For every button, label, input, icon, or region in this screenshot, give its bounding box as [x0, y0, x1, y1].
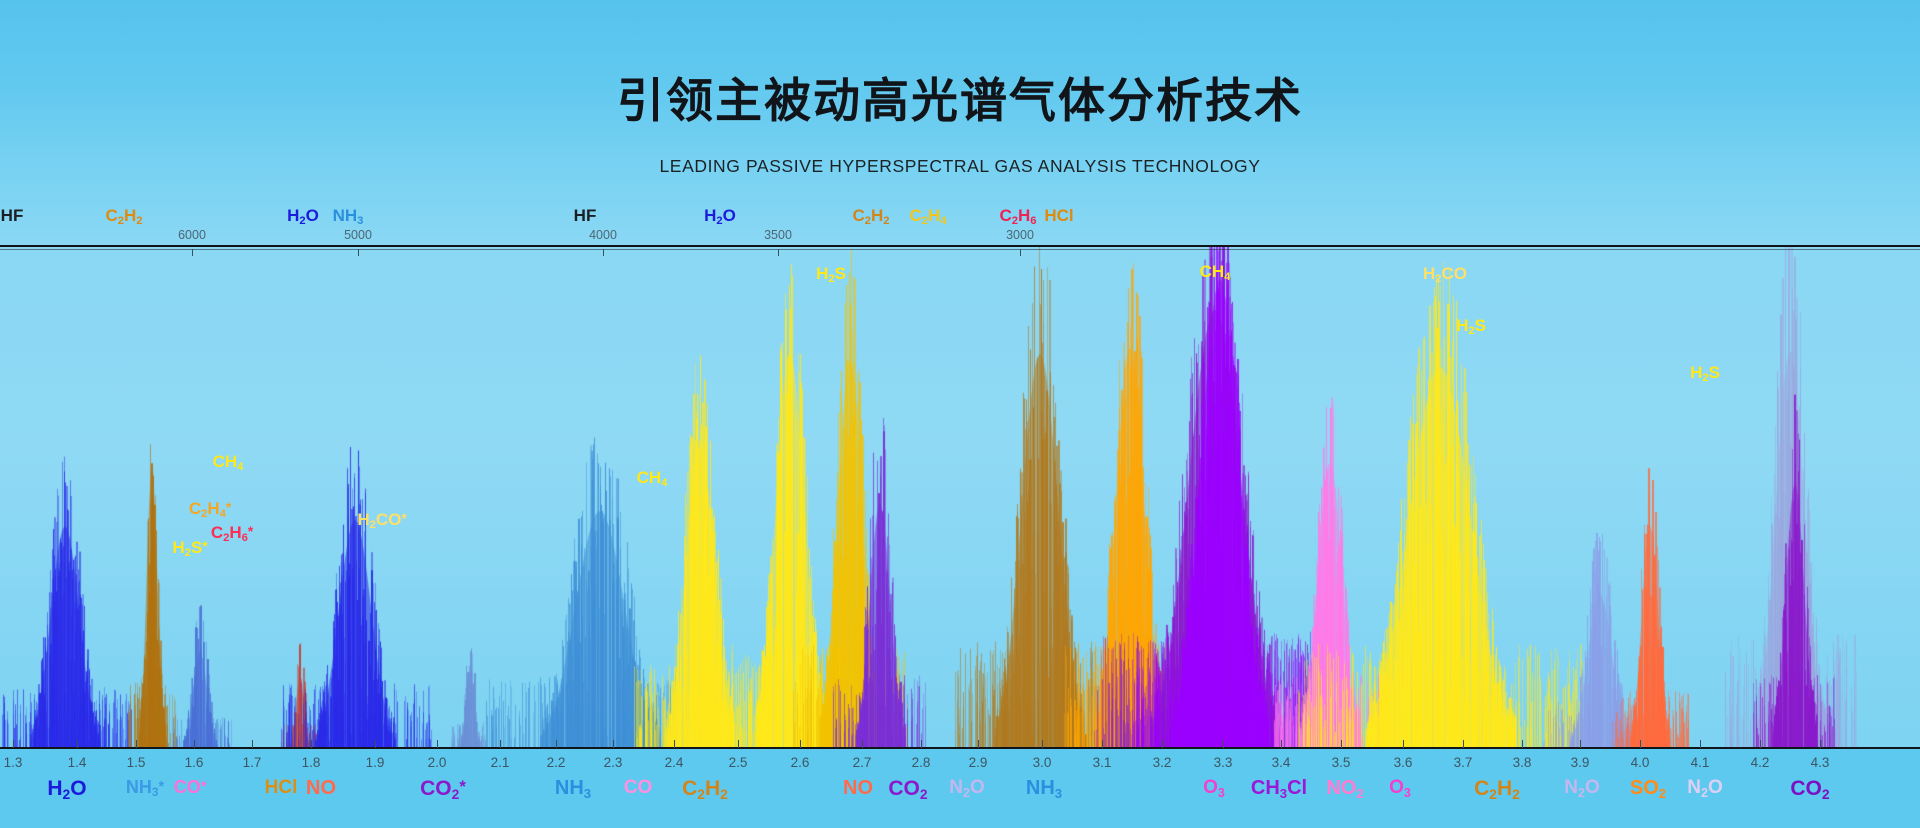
bottom-tick-label: 4.1	[1691, 755, 1710, 770]
bottom-species-label: CO2*	[420, 778, 466, 799]
bottom-tick-mark	[1403, 740, 1404, 748]
bottom-tick-mark	[800, 740, 801, 748]
page-title: 引领主被动高光谱气体分析技术	[0, 62, 1920, 131]
bottom-species-label: N2O	[1687, 778, 1723, 797]
bottom-species-label: SO2	[1630, 778, 1666, 798]
bottom-tick-mark	[978, 740, 979, 748]
bottom-tick-label: 2.3	[604, 755, 623, 770]
top-species-label: HF	[1, 207, 24, 224]
bottom-species-label: O3	[1389, 778, 1411, 797]
bottom-species-label: CH3Cl	[1251, 778, 1307, 798]
bottom-tick-mark	[921, 740, 922, 748]
bottom-tick-mark	[1162, 740, 1163, 748]
bottom-species-label: NH3*	[126, 778, 164, 796]
in-plot-species-label: H2S	[816, 265, 846, 282]
bottom-tick-label: 3.4	[1272, 755, 1291, 770]
bottom-tick-label: 3.8	[1513, 755, 1532, 770]
bottom-tick-mark	[311, 740, 312, 748]
bottom-tick-label: 3.0	[1033, 755, 1052, 770]
bottom-tick-label: 4.2	[1751, 755, 1770, 770]
top-tick-label: 3000	[1006, 228, 1034, 242]
bottom-tick-mark	[674, 740, 675, 748]
bottom-tick-label: 1.9	[366, 755, 385, 770]
bottom-tick-label: 1.5	[127, 755, 146, 770]
in-plot-species-label: H2S	[1456, 317, 1486, 334]
bottom-tick-mark	[437, 740, 438, 748]
bottom-tick-mark	[738, 740, 739, 748]
top-species-label: H2O	[704, 207, 736, 224]
bottom-tick-mark	[1281, 740, 1282, 748]
bottom-tick-label: 1.8	[302, 755, 321, 770]
in-plot-species-label: CH4	[213, 453, 244, 470]
top-species-label: C2H2	[852, 207, 889, 224]
bottom-species-label: C2H2	[682, 778, 728, 799]
bottom-tick-mark	[613, 740, 614, 748]
in-plot-species-label: H2S*	[172, 539, 207, 556]
bottom-species-label: CO2	[1790, 778, 1829, 799]
top-tick-label: 4000	[589, 228, 617, 242]
bottom-species-label: N2O	[949, 778, 985, 797]
top-species-label: HF	[574, 207, 597, 224]
bottom-tick-label: 3.9	[1571, 755, 1590, 770]
bottom-tick-label: 4.3	[1811, 755, 1830, 770]
bottom-tick-label: 2.7	[853, 755, 872, 770]
bottom-tick-label: 3.2	[1153, 755, 1172, 770]
bottom-tick-label: 3.5	[1332, 755, 1351, 770]
bottom-tick-label: 1.3	[4, 755, 23, 770]
bottom-tick-label: 2.0	[428, 755, 447, 770]
in-plot-species-label: H2S	[1690, 364, 1720, 381]
bottom-tick-label: 1.4	[68, 755, 87, 770]
bottom-species-label: CO2	[888, 778, 927, 799]
top-species-label: H2O	[287, 207, 319, 224]
bottom-tick-mark	[1700, 740, 1701, 748]
bottom-tick-mark	[1760, 740, 1761, 748]
bottom-tick-mark	[194, 740, 195, 748]
in-plot-species-label: C2H4*	[189, 500, 231, 517]
bottom-species-label: NO	[306, 778, 336, 798]
bottom-tick-label: 3.6	[1394, 755, 1413, 770]
in-plot-species-label: C2H6*	[211, 524, 253, 541]
top-tick-mark	[778, 249, 779, 256]
bottom-species-label: NO2	[1326, 778, 1363, 798]
top-tick-label: 5000	[344, 228, 372, 242]
in-plot-species-label: CH4	[1200, 263, 1231, 280]
top-species-label: HCl	[1044, 207, 1073, 224]
bottom-species-label: O3	[1203, 778, 1225, 797]
bottom-tick-mark	[1522, 740, 1523, 748]
bottom-tick-label: 2.4	[665, 755, 684, 770]
bottom-tick-mark	[1223, 740, 1224, 748]
bottom-tick-mark	[1820, 740, 1821, 748]
bottom-species-label: NH3	[555, 778, 591, 798]
in-plot-species-label: H2CO	[1423, 265, 1467, 282]
bottom-tick-mark	[1463, 740, 1464, 748]
bottom-tick-label: 3.1	[1093, 755, 1112, 770]
bottom-tick-label: 2.5	[729, 755, 748, 770]
spectrum-chart	[0, 247, 1920, 749]
bottom-species-label: C2H2	[1474, 778, 1520, 799]
bottom-species-label: N2O	[1564, 778, 1600, 797]
spectrum-canvas	[0, 247, 1920, 749]
bottom-species-label: NH3	[1026, 778, 1062, 798]
bottom-tick-label: 3.3	[1214, 755, 1233, 770]
top-species-label: C2H6	[999, 207, 1036, 224]
bottom-tick-mark	[1102, 740, 1103, 748]
in-plot-species-label: H2CO*	[357, 511, 406, 528]
bottom-species-label: CO	[624, 778, 653, 797]
top-axis-line-secondary	[0, 249, 1920, 250]
bottom-tick-mark	[77, 740, 78, 748]
bottom-tick-mark	[375, 740, 376, 748]
bottom-tick-mark	[862, 740, 863, 748]
bottom-species-label: CO*	[174, 778, 207, 796]
in-plot-species-label: CH4	[637, 469, 668, 486]
bottom-tick-label: 2.8	[912, 755, 931, 770]
bottom-species-label: NO	[843, 778, 873, 798]
bottom-tick-mark	[1042, 740, 1043, 748]
page-subtitle: LEADING PASSIVE HYPERSPECTRAL GAS ANALYS…	[0, 156, 1920, 177]
bottom-tick-mark	[500, 740, 501, 748]
top-species-label: C2H2	[105, 207, 142, 224]
top-tick-label: 6000	[178, 228, 206, 242]
bottom-tick-label: 1.7	[243, 755, 262, 770]
bottom-species-label: HCl	[265, 778, 298, 797]
bottom-tick-label: 2.1	[491, 755, 510, 770]
bottom-tick-mark	[252, 740, 253, 748]
top-tick-mark	[192, 249, 193, 256]
bottom-tick-mark	[1580, 740, 1581, 748]
bottom-tick-label: 3.7	[1454, 755, 1473, 770]
bottom-axis-line	[0, 747, 1920, 749]
top-axis-line	[0, 245, 1920, 247]
top-species-label: C2H4	[909, 207, 946, 224]
bottom-species-label: H2O	[47, 778, 86, 799]
bottom-tick-mark	[1341, 740, 1342, 748]
top-tick-mark	[1020, 249, 1021, 256]
bottom-tick-label: 2.2	[547, 755, 566, 770]
top-tick-mark	[358, 249, 359, 256]
bottom-tick-label: 2.6	[791, 755, 810, 770]
bottom-tick-mark	[1640, 740, 1641, 748]
top-tick-mark	[603, 249, 604, 256]
poster-root: 引领主被动高光谱气体分析技术 LEADING PASSIVE HYPERSPEC…	[0, 0, 1920, 828]
bottom-tick-mark	[136, 740, 137, 748]
bottom-tick-label: 1.6	[185, 755, 204, 770]
bottom-tick-mark	[13, 740, 14, 748]
top-species-label: NH3	[333, 207, 364, 224]
bottom-tick-label: 4.0	[1631, 755, 1650, 770]
bottom-tick-label: 2.9	[969, 755, 988, 770]
bottom-tick-mark	[556, 740, 557, 748]
top-tick-label: 3500	[764, 228, 792, 242]
